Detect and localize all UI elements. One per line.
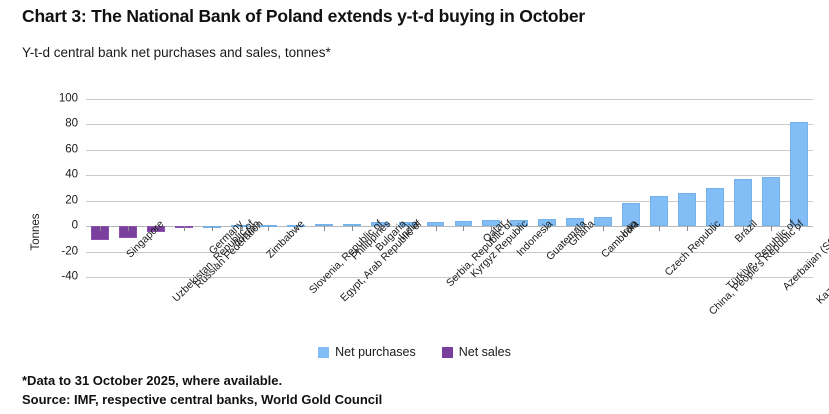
legend-label: Net sales (459, 345, 511, 359)
x-label: Zimbabwe (264, 218, 307, 261)
y-tick-80: 80 (42, 119, 78, 131)
chart-subtitle: Y-t-d central bank net purchases and sal… (22, 45, 331, 60)
footnote-data-note: *Data to 31 October 2025, where availabl… (22, 372, 382, 391)
chart-page: Chart 3: The National Bank of Poland ext… (0, 0, 829, 414)
legend-item-sales[interactable]: Net sales (442, 345, 511, 359)
x-label: Singapore (124, 218, 166, 260)
legend-swatch-purchases (318, 347, 329, 358)
legend-label: Net purchases (335, 345, 416, 359)
page-title: Chart 3: The National Bank of Poland ext… (22, 6, 585, 27)
legend-item-purchases[interactable]: Net purchases (318, 345, 416, 359)
chart-legend: Net purchasesNet sales (0, 345, 829, 359)
x-label: Czech Republic (663, 218, 723, 278)
footnotes: *Data to 31 October 2025, where availabl… (22, 372, 382, 410)
y-tick-0: 0 (42, 220, 78, 232)
y-tick-60: 60 (42, 144, 78, 156)
y-tick-40: 40 (42, 170, 78, 182)
x-axis-tick-labels: SingaporeUzbekistan, Republic ofRussian … (86, 218, 813, 338)
y-tick--20: -20 (42, 246, 78, 258)
y-axis-tick-labels: 100806040200-20-40 (42, 88, 78, 278)
y-tick-100: 100 (42, 93, 78, 105)
y-axis-title: Tonnes (30, 192, 42, 272)
x-label: Brazil (733, 218, 760, 245)
y-tick--40: -40 (42, 271, 78, 283)
x-label: Ghana (567, 218, 598, 249)
y-tick-20: 20 (42, 195, 78, 207)
legend-swatch-sales (442, 347, 453, 358)
footnote-source: Source: IMF, respective central banks, W… (22, 391, 382, 410)
bar (790, 122, 808, 226)
